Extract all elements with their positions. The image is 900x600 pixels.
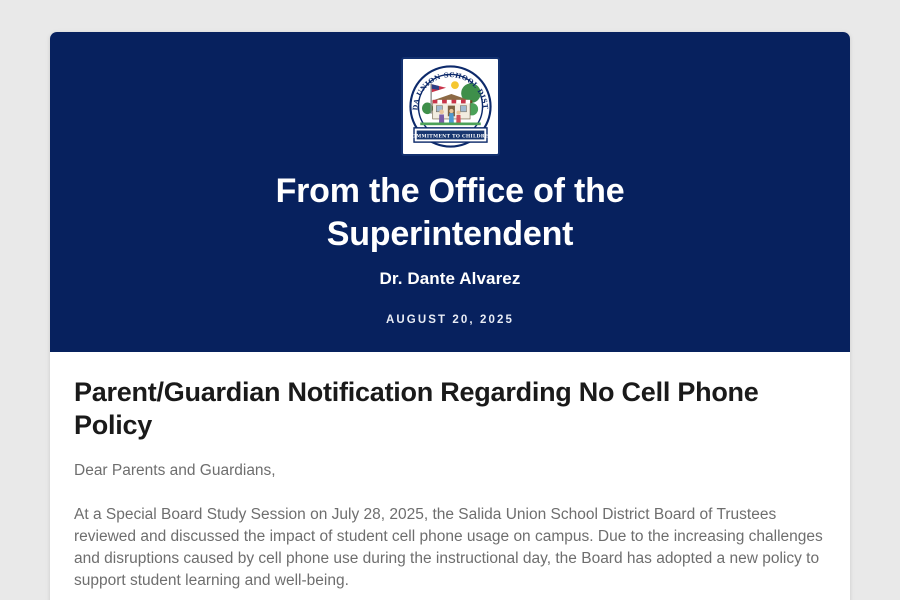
newsletter-page: SALIDA UNION SCHOOL DISTRICT COMMITMENT … <box>0 0 900 600</box>
newsletter-body: Parent/Guardian Notification Regarding N… <box>50 352 850 600</box>
header-subtitle-superintendent-name: Dr. Dante Alvarez <box>80 269 820 289</box>
header-title: From the Office of the Superintendent <box>190 170 710 256</box>
newsletter-card: SALIDA UNION SCHOOL DISTRICT COMMITMENT … <box>50 32 850 600</box>
svg-text:COMMITMENT TO CHILDREN: COMMITMENT TO CHILDREN <box>407 133 493 139</box>
district-seal-icon: SALIDA UNION SCHOOL DISTRICT COMMITMENT … <box>406 62 495 151</box>
article-paragraph-policy-background: At a Special Board Study Session on July… <box>74 504 826 592</box>
article-paragraph-salutation: Dear Parents and Guardians, <box>74 460 826 482</box>
district-seal-logo: SALIDA UNION SCHOOL DISTRICT COMMITMENT … <box>401 57 500 156</box>
article-title: Parent/Guardian Notification Regarding N… <box>74 376 826 442</box>
header-date: AUGUST 20, 2025 <box>80 314 820 326</box>
newsletter-header: SALIDA UNION SCHOOL DISTRICT COMMITMENT … <box>50 32 850 352</box>
